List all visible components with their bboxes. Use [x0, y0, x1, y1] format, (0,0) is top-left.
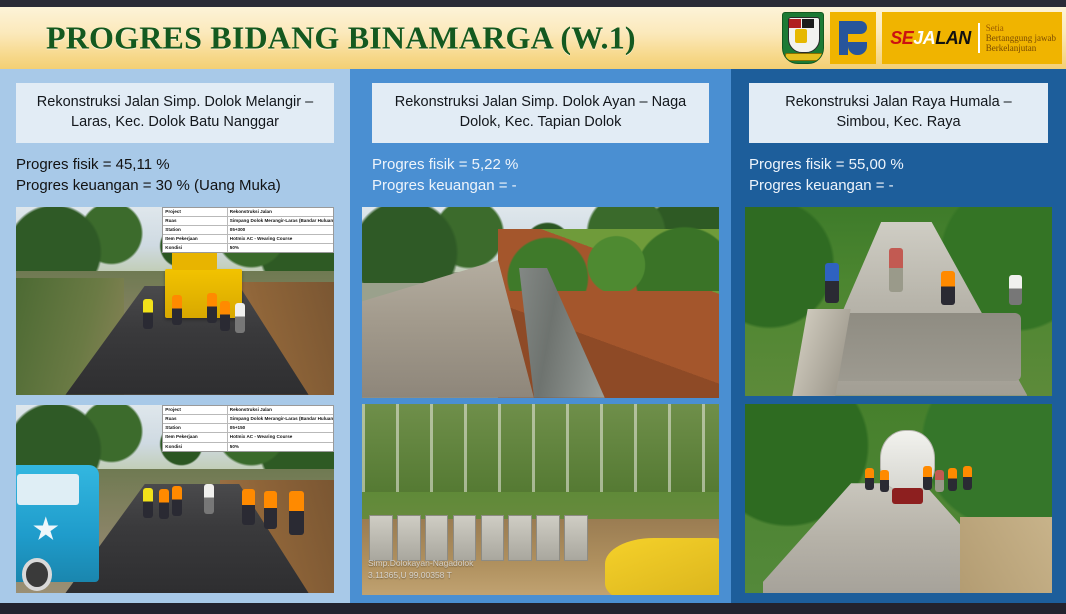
tagline-line-1: Setia [986, 23, 1056, 33]
project-columns: Rekonstruksi Jalan Simp. Dolok Melangir … [0, 69, 1066, 603]
geotag-location: Simp.Dolokayan-Nagadolok [368, 558, 473, 569]
crest-red-band [789, 19, 801, 28]
info-value: Hotmix AC - Wearing Course [228, 235, 333, 243]
info-key: Project [163, 406, 227, 414]
precast-block [564, 515, 588, 561]
photo-stack-2: Simp.Dolokayan-Nagadolok 3.11365,U 99.00… [350, 197, 731, 604]
worker-figure [963, 466, 972, 490]
palm-tree-row [362, 404, 719, 492]
project-column-3: Rekonstruksi Jalan Raya Humala – Simbou,… [731, 69, 1066, 603]
precast-block [369, 515, 393, 561]
sejalan-se: SE [890, 28, 913, 48]
info-key: Station [163, 424, 227, 432]
blue-truck [16, 465, 99, 582]
truck-windshield [17, 474, 79, 504]
info-key: Ruas [163, 217, 227, 225]
pu-glyph [839, 21, 867, 55]
worker-figure [889, 248, 903, 292]
info-value: Hotmix AC - Wearing Course [228, 433, 333, 441]
photo-stack-1: ProjectRekonstruksi Jalan RuasSimpang Do… [0, 197, 350, 604]
info-value: 50% [228, 443, 333, 451]
info-row: Kondisi50% [163, 244, 333, 252]
photo-info-overlay: ProjectRekonstruksi Jalan RuasSimpang Do… [162, 207, 334, 254]
mixer-chute [892, 488, 923, 504]
precast-block [453, 515, 477, 561]
info-value: Rekonstruksi Jalan [228, 208, 333, 216]
worker-figure [143, 488, 153, 518]
progres-fisik-1: Progres fisik = 45,11 % [16, 155, 348, 176]
info-key: Item Pekerjaan [163, 433, 227, 441]
crest-gold-band [795, 29, 807, 43]
photo-stack-3 [731, 197, 1066, 604]
sand-stockpile [960, 517, 1052, 593]
worker-figure [935, 470, 944, 492]
slide-header: PROGRES BIDANG BINAMARGA (W.1) SEJALAN [0, 7, 1066, 69]
info-value: Simpang Dolok Merangir-Laras (Bandar Hul… [228, 217, 333, 225]
precast-block-row [369, 496, 583, 561]
sejalan-ja: JA [913, 28, 935, 48]
project-stats-3: Progres fisik = 55,00 % Progres keuangan… [731, 143, 1066, 196]
worker-figure [172, 486, 182, 516]
wet-concrete-area [825, 313, 1022, 381]
precast-block [425, 515, 449, 561]
info-row: Station05+150 [163, 424, 333, 433]
worker-figure [143, 299, 153, 329]
crest-black-band [802, 19, 814, 28]
info-value: 50% [228, 244, 333, 252]
project-stats-2: Progres fisik = 5,22 % Progres keuangan … [350, 143, 731, 196]
progres-fisik-2: Progres fisik = 5,22 % [372, 155, 729, 176]
top-rail [0, 0, 1066, 7]
photo-asphalt-paving-bottom: ProjectRekonstruksi Jalan RuasSimpang Do… [16, 405, 334, 593]
precast-block [536, 515, 560, 561]
info-row: RuasSimpang Dolok Merangir-Laras (Bandar… [163, 415, 333, 424]
truck-star-decal-icon [33, 516, 59, 542]
tagline-line-3: Berkelanjutan [986, 43, 1056, 53]
progres-keuangan-3: Progres keuangan = - [749, 176, 1064, 197]
pu-glyph-bottom-arc [848, 42, 867, 55]
worker-figure [880, 470, 889, 492]
info-row: Item PekerjaanHotmix AC - Wearing Course [163, 433, 333, 442]
photo-info-overlay: ProjectRekonstruksi Jalan RuasSimpang Do… [162, 405, 334, 452]
worker-figure [948, 468, 957, 491]
info-key: Ruas [163, 415, 227, 423]
worker-figure [825, 263, 839, 303]
info-row: ProjectRekonstruksi Jalan [163, 406, 333, 415]
pu-glyph-top-arc [848, 21, 867, 34]
sejalan-lan: LAN [935, 28, 971, 48]
info-key: Kondisi [163, 244, 227, 252]
photo-concrete-road-mixer [745, 404, 1052, 593]
geotag-coordinates: 3.11365,U 99.00358 T [368, 570, 473, 581]
worker-figure [923, 466, 932, 490]
precast-block [397, 515, 421, 561]
info-key: Item Pekerjaan [163, 235, 227, 243]
worker-figure [207, 293, 217, 323]
project-column-1: Rekonstruksi Jalan Simp. Dolok Melangir … [0, 69, 350, 603]
project-column-2: Rekonstruksi Jalan Simp. Dolok Ayan – Na… [350, 69, 731, 603]
worker-figure [204, 484, 214, 514]
progres-keuangan-1: Progres keuangan = 30 % (Uang Muka) [16, 176, 348, 197]
worker-figure [941, 271, 955, 305]
photo-geotag-stamp: Simp.Dolokayan-Nagadolok 3.11365,U 99.00… [368, 558, 473, 581]
photo-asphalt-paving-top: ProjectRekonstruksi Jalan RuasSimpang Do… [16, 207, 334, 395]
slide-root: PROGRES BIDANG BINAMARGA (W.1) SEJALAN [0, 0, 1066, 614]
project-stats-1: Progres fisik = 45,11 % Progres keuangan… [0, 143, 350, 196]
page-title: PROGRES BIDANG BINAMARGA (W.1) [46, 20, 636, 57]
progres-fisik-3: Progres fisik = 55,00 % [749, 155, 1064, 176]
sejalan-logo: SEJALAN Setia Bertanggung jawab Berkelan… [882, 12, 1062, 64]
precast-block [508, 515, 532, 561]
info-value: 05+150 [228, 424, 333, 432]
info-value: 05+300 [228, 226, 333, 234]
worker-figure [235, 303, 245, 333]
worker-figure [159, 489, 169, 519]
crest-ribbon [785, 53, 823, 61]
info-row: Item PekerjaanHotmix AC - Wearing Course [163, 235, 333, 244]
pu-logo-icon [830, 12, 876, 64]
photo-kerb-blocks: Simp.Dolokayan-Nagadolok 3.11365,U 99.00… [362, 404, 719, 595]
sejalan-tagline: Setia Bertanggung jawab Berkelanjutan [978, 23, 1056, 53]
info-value: Simpang Dolok Merangir-Laras (Bandar Hul… [228, 415, 333, 423]
sejalan-wordmark: SEJALAN [890, 28, 971, 49]
info-key: Kondisi [163, 443, 227, 451]
info-row: Station05+300 [163, 226, 333, 235]
info-row: Kondisi50% [163, 443, 333, 451]
bottom-rail [0, 603, 1066, 614]
info-key: Station [163, 226, 227, 234]
project-title-card-3: Rekonstruksi Jalan Raya Humala – Simbou,… [749, 83, 1048, 143]
tagline-line-2: Bertanggung jawab [986, 33, 1056, 43]
info-row: RuasSimpang Dolok Merangir-Laras (Bandar… [163, 217, 333, 226]
crest-icon [782, 12, 824, 64]
worker-figure [1009, 275, 1022, 305]
worker-figure [172, 295, 182, 325]
branding-logos: SEJALAN Setia Bertanggung jawab Berkelan… [782, 12, 1062, 64]
worker-figure [289, 491, 304, 535]
project-title-card-1: Rekonstruksi Jalan Simp. Dolok Melangir … [16, 83, 334, 143]
yellow-equipment [605, 538, 719, 595]
photo-drainage-channel [362, 207, 719, 398]
project-title-card-2: Rekonstruksi Jalan Simp. Dolok Ayan – Na… [372, 83, 709, 143]
worker-figure [865, 468, 874, 490]
worker-figure [242, 489, 255, 525]
worker-figure [264, 491, 277, 529]
worker-figure [220, 301, 230, 331]
progres-keuangan-2: Progres keuangan = - [372, 176, 729, 197]
info-value: Rekonstruksi Jalan [228, 406, 333, 414]
photo-concrete-pour [745, 207, 1052, 396]
info-key: Project [163, 208, 227, 216]
pu-glyph-stem [839, 21, 848, 55]
info-row: ProjectRekonstruksi Jalan [163, 208, 333, 217]
precast-block [481, 515, 505, 561]
